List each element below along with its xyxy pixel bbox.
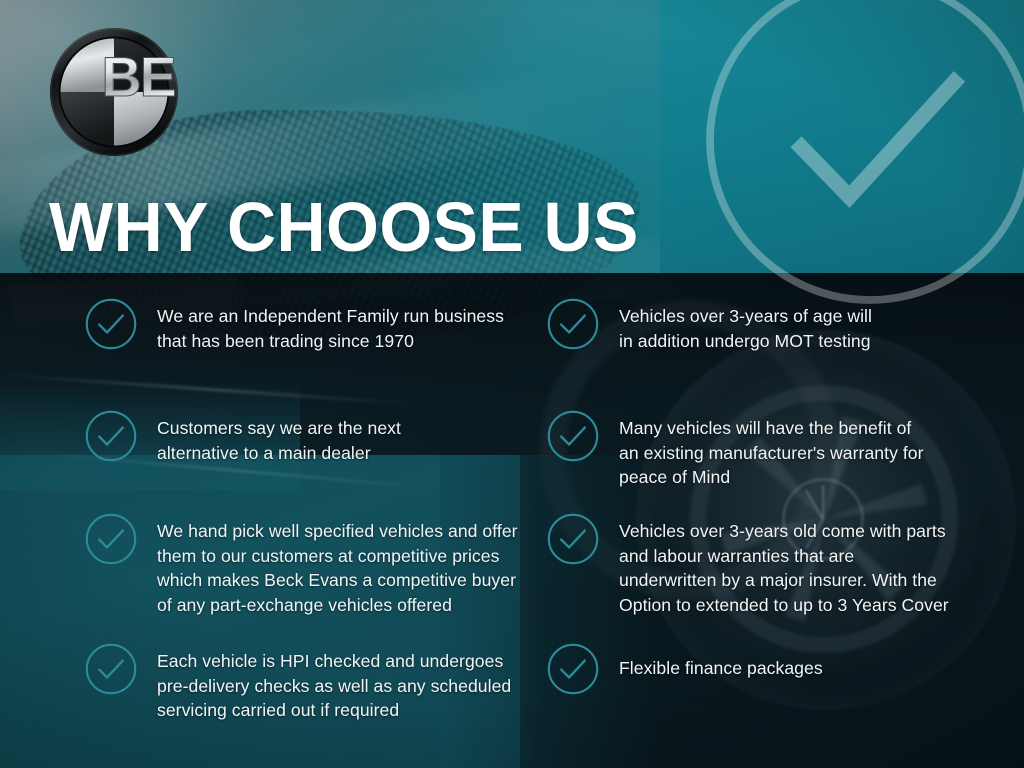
text-line: We hand pick well specified vehicles and… <box>157 519 518 544</box>
text-line: which makes Beck Evans a competitive buy… <box>157 568 518 593</box>
list-item: Flexible finance packages <box>546 640 966 696</box>
check-circle-icon <box>546 297 600 351</box>
list-item-text: Each vehicle is HPI checked and undergoe… <box>157 640 511 723</box>
text-line: an existing manufacturer's warranty for <box>619 441 924 466</box>
text-line: underwritten by a major insurer. With th… <box>619 568 949 593</box>
teal-overlay-top-right <box>660 0 1024 273</box>
list-item-text: Vehicles over 3-years of age will in add… <box>619 295 872 353</box>
check-circle-icon <box>84 642 138 696</box>
list-item-text: Customers say we are the next alternativ… <box>157 407 401 465</box>
text-line: in addition undergo MOT testing <box>619 329 872 354</box>
logo-letters: BE <box>102 46 175 108</box>
check-circle-icon <box>84 409 138 463</box>
text-line: We are an Independent Family run busines… <box>157 304 504 329</box>
text-line: Vehicles over 3-years old come with part… <box>619 519 949 544</box>
list-item-text: Vehicles over 3-years old come with part… <box>619 510 949 617</box>
check-circle-icon <box>546 512 600 566</box>
text-line: servicing carried out if required <box>157 698 511 723</box>
list-item-text: We hand pick well specified vehicles and… <box>157 510 518 617</box>
text-line: pre-delivery checks as well as any sched… <box>157 674 511 699</box>
why-choose-us-slide: BE WHY CHOOSE US We are an Independent F… <box>0 0 1024 768</box>
page-title: WHY CHOOSE US <box>49 192 639 262</box>
text-line: them to our customers at competitive pri… <box>157 544 518 569</box>
list-item: Many vehicles will have the benefit of a… <box>546 407 966 490</box>
list-item: Each vehicle is HPI checked and undergoe… <box>84 640 504 723</box>
beck-evans-logo[interactable]: BE <box>47 25 181 159</box>
check-circle-icon <box>84 297 138 351</box>
list-item: We hand pick well specified vehicles and… <box>84 510 504 617</box>
text-line: that has been trading since 1970 <box>157 329 504 354</box>
text-line: alternative to a main dealer <box>157 441 401 466</box>
text-line: peace of Mind <box>619 465 924 490</box>
check-circle-icon <box>84 512 138 566</box>
list-item: Vehicles over 3-years old come with part… <box>546 510 966 617</box>
check-circle-icon <box>546 409 600 463</box>
text-line: and labour warranties that are <box>619 544 949 569</box>
text-line: Flexible finance packages <box>619 656 823 681</box>
text-line: of any part-exchange vehicles offered <box>157 593 518 618</box>
text-line: Many vehicles will have the benefit of <box>619 416 924 441</box>
list-item-text: We are an Independent Family run busines… <box>157 295 504 353</box>
check-circle-icon <box>546 642 600 696</box>
text-line: Each vehicle is HPI checked and undergoe… <box>157 649 511 674</box>
list-item: We are an Independent Family run busines… <box>84 295 504 353</box>
list-item: Customers say we are the next alternativ… <box>84 407 504 465</box>
text-line: Customers say we are the next <box>157 416 401 441</box>
list-item-text: Flexible finance packages <box>619 656 823 681</box>
text-line: Vehicles over 3-years of age will <box>619 304 872 329</box>
list-item: Vehicles over 3-years of age will in add… <box>546 295 966 353</box>
text-line: Option to extended to up to 3 Years Cove… <box>619 593 949 618</box>
list-item-text: Many vehicles will have the benefit of a… <box>619 407 924 490</box>
